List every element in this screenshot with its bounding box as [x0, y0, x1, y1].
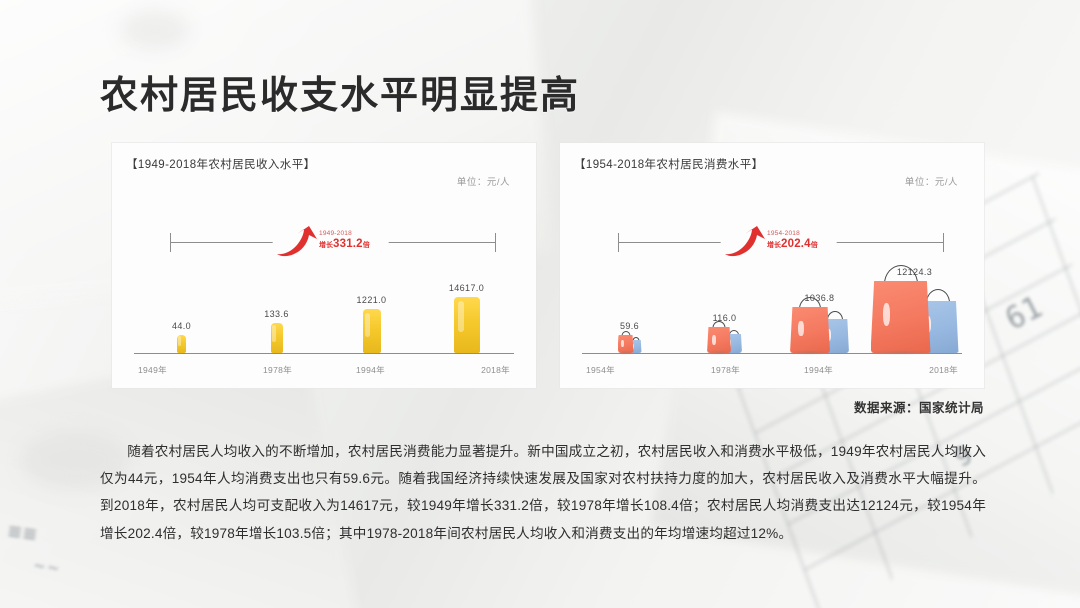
bar-column: 44.0 [134, 321, 229, 353]
page-title: 农村居民收支水平明显提高 [100, 64, 580, 119]
chart-card-consumption: 【1954-2018年农村居民消费水平】 单位：元/人 1954-2018 增长… [560, 143, 984, 388]
bar-column: 59.6 [582, 321, 677, 353]
x-axis-labels-income: 1949年 1978年 1994年 2018年 [134, 364, 514, 376]
x-axis-labels-consumption: 1954年 1978年 1994年 2018年 [582, 364, 962, 376]
bar-column: 1221.0 [324, 295, 419, 353]
slide-content: 农村居民收支水平明显提高 【1949-2018年农村居民收入水平】 单位：元/人… [0, 0, 1080, 608]
bar-value-label: 14617.0 [449, 283, 484, 293]
x-axis-label: 1978年 [679, 364, 772, 376]
plot-area-income: 44.0 133.6 1221.0 14617.0 [126, 238, 522, 388]
shopping-bag-red-icon [707, 327, 731, 353]
bar-value-label: 59.6 [620, 321, 639, 331]
charts-row: 【1949-2018年农村居民收入水平】 单位：元/人 1949-2018 增长… [112, 143, 984, 388]
chart-unit-income: 单位：元/人 [457, 174, 510, 188]
shopping-bag-red-icon [618, 335, 634, 353]
x-axis-label: 2018年 [417, 364, 514, 376]
bar-value-label: 133.6 [264, 309, 289, 319]
coin-bar [363, 309, 381, 353]
bar-column: 14617.0 [419, 283, 514, 353]
annotation-range-consumption: 1954-2018 [767, 231, 818, 238]
coin-bar [454, 297, 480, 353]
shopping-bag-group [871, 281, 959, 353]
bar-value-label: 44.0 [172, 321, 191, 331]
body-paragraph: 随着农村居民人均收入的不断增加，农村居民消费能力显著提升。新中国成立之初，农村居… [100, 438, 986, 547]
chart-card-income: 【1949-2018年农村居民收入水平】 单位：元/人 1949-2018 增长… [112, 143, 536, 388]
plot-area-consumption: 59.6 [574, 238, 970, 388]
chart-title-income: 【1949-2018年农村居民收入水平】 [126, 156, 522, 172]
shopping-bag-red-icon [871, 281, 931, 353]
chart-unit-consumption: 单位：元/人 [905, 174, 958, 188]
annotation-range-income: 1949-2018 [319, 231, 370, 238]
x-axis-label: 2018年 [865, 364, 962, 376]
shopping-bag-group [790, 307, 849, 353]
bar-column: 116.0 [677, 313, 772, 353]
shopping-bag-group [618, 335, 642, 353]
bar-value-label: 1221.0 [357, 295, 387, 305]
x-axis-label: 1994年 [772, 364, 865, 376]
x-axis-label: 1978年 [231, 364, 324, 376]
source-note: 数据来源：国家统计局 [854, 397, 984, 416]
shopping-bag-group [707, 327, 742, 353]
coin-bar [177, 335, 186, 353]
chart-title-consumption: 【1954-2018年农村居民消费水平】 [574, 156, 970, 172]
shopping-bag-red-icon [790, 307, 830, 353]
bar-column: 1036.8 [772, 293, 867, 353]
bar-column: 12124.3 [867, 267, 962, 353]
x-axis-label: 1949年 [134, 364, 231, 376]
bar-column: 133.6 [229, 309, 324, 353]
x-axis-label: 1954年 [582, 364, 679, 376]
bars-income: 44.0 133.6 1221.0 14617.0 [134, 238, 514, 353]
x-axis-label: 1994年 [324, 364, 417, 376]
coin-bar [271, 323, 283, 353]
bars-consumption: 59.6 [582, 238, 962, 353]
